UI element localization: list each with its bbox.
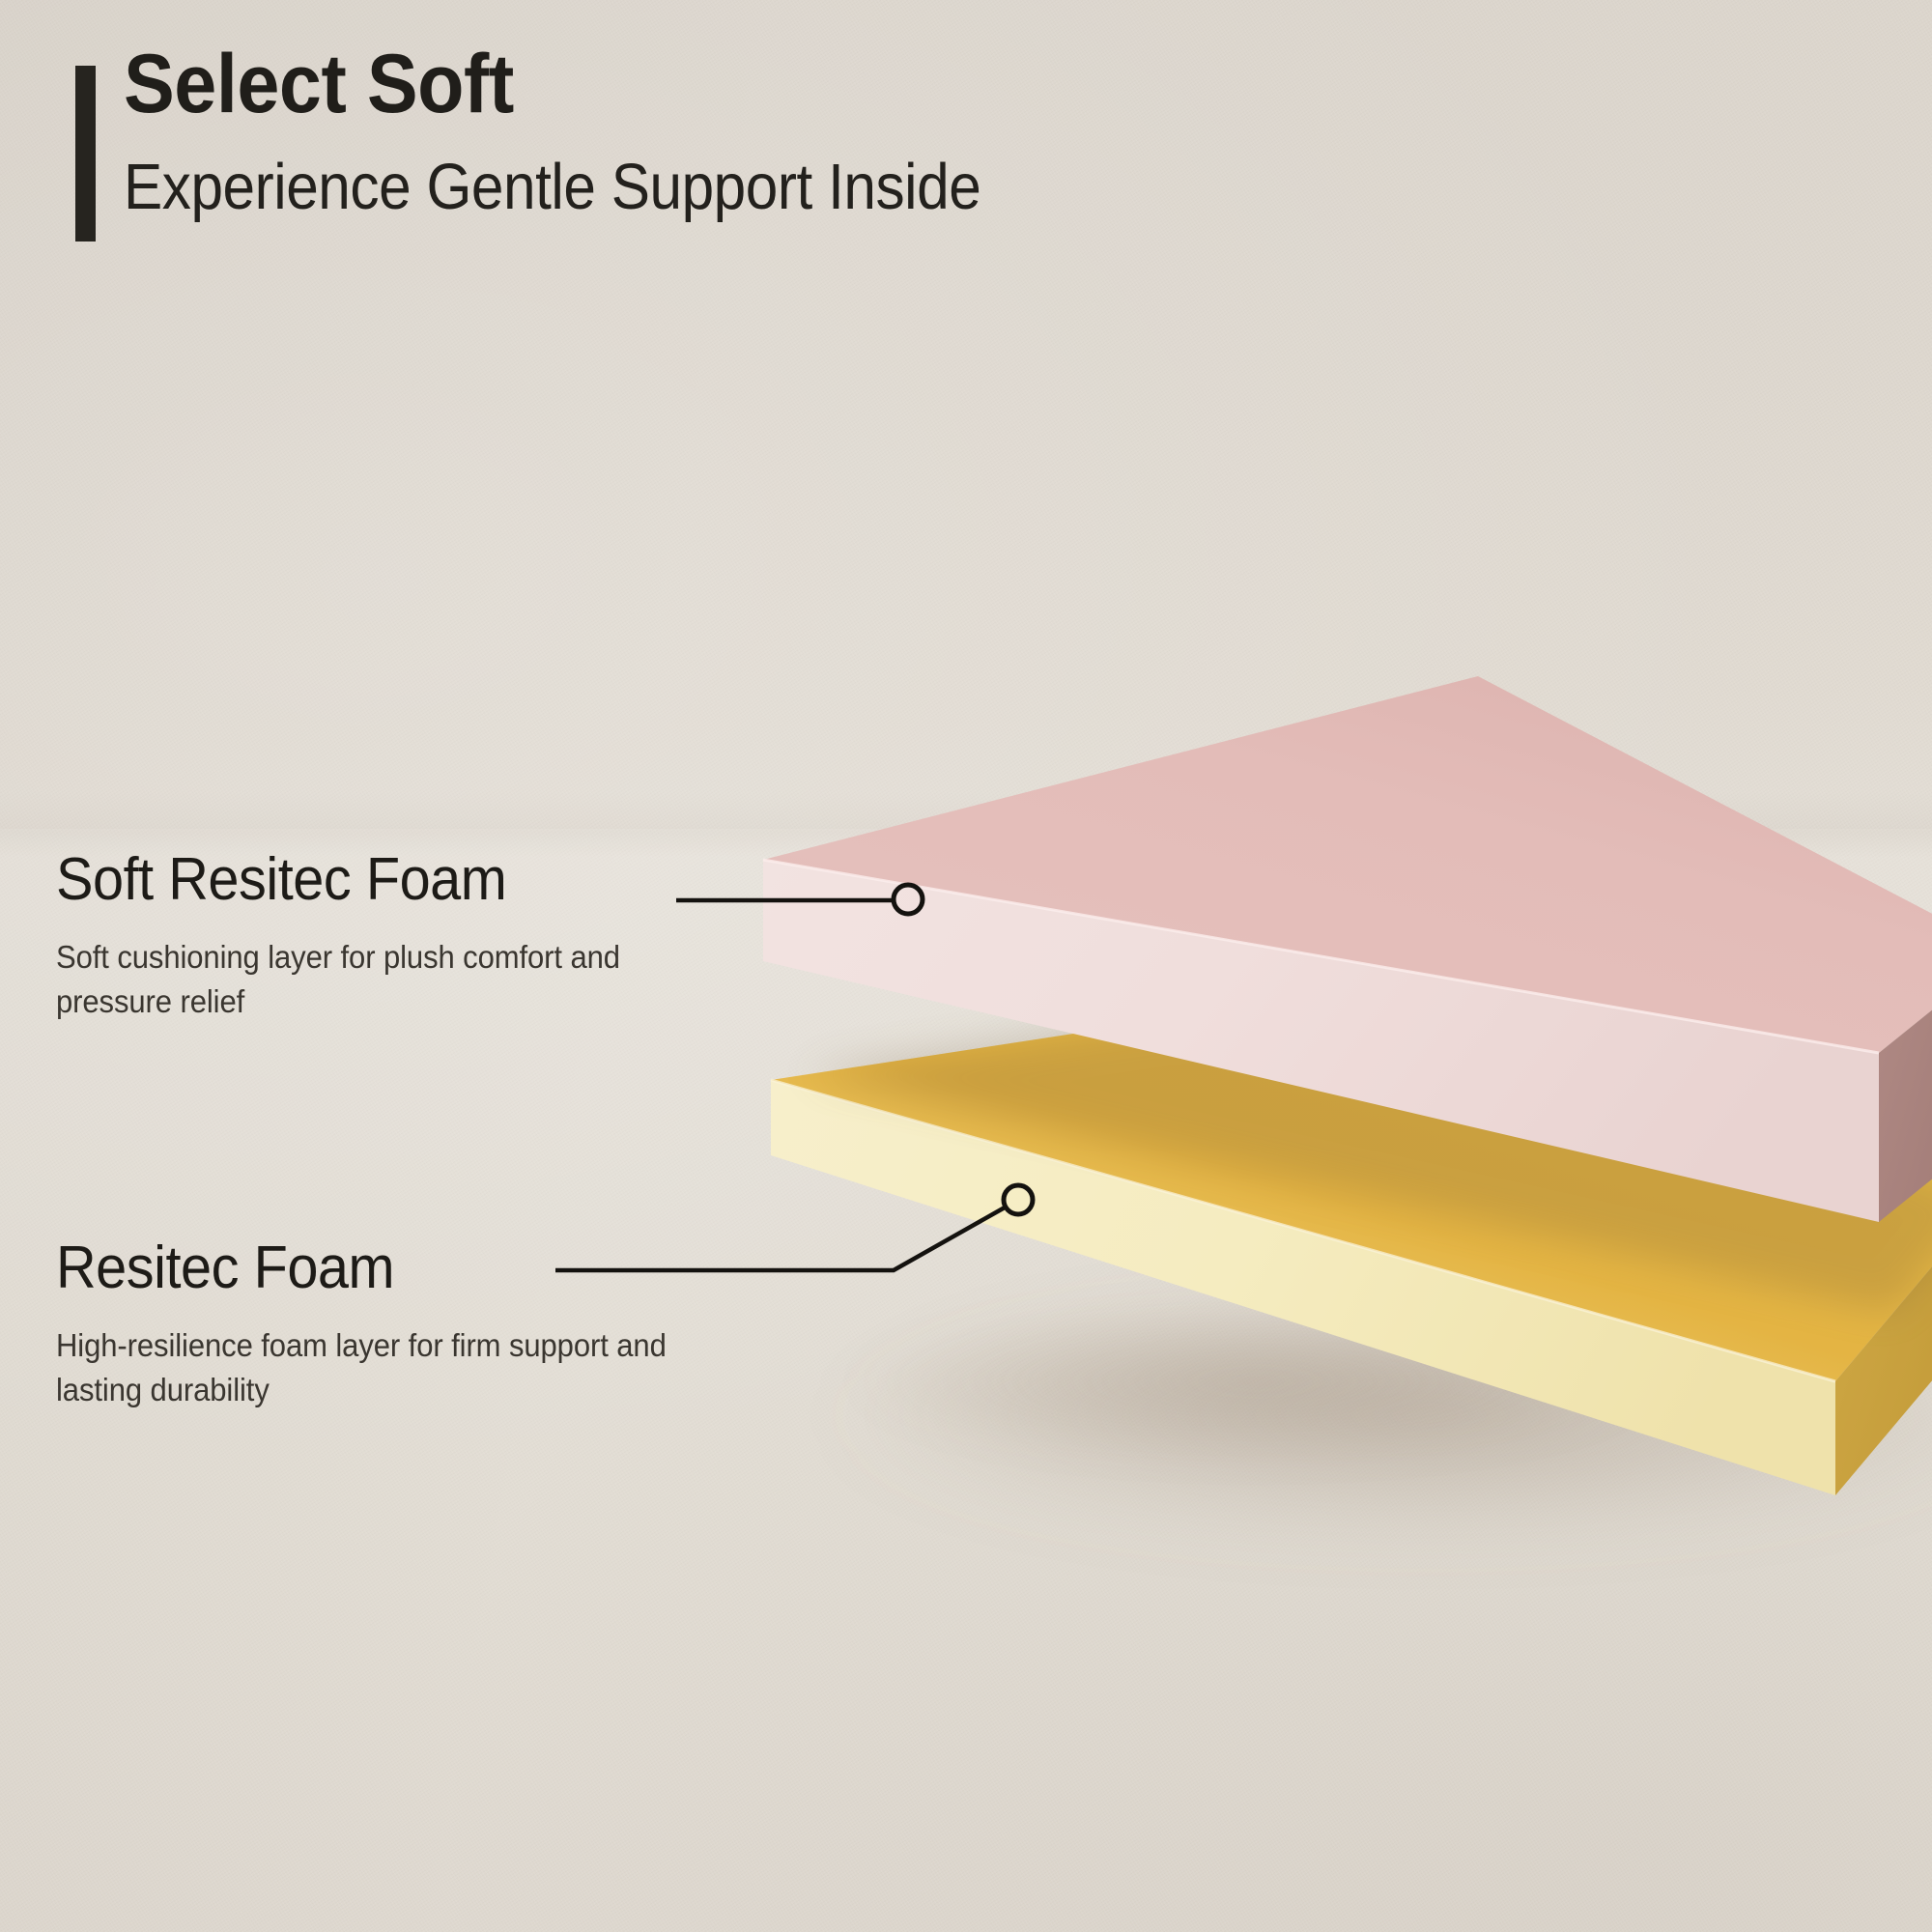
page-title: Select Soft bbox=[124, 43, 514, 126]
product-layer-diagram: Select Soft Experience Gentle Support In… bbox=[0, 0, 1932, 1932]
callout-description: Soft cushioning layer for plush comfort … bbox=[56, 935, 692, 1023]
callout-description: High-resilience foam layer for firm supp… bbox=[56, 1323, 692, 1411]
accent-bar bbox=[75, 66, 96, 241]
callout-soft-resitec-foam[interactable]: Soft Resitec Foam Soft cushioning layer … bbox=[56, 850, 732, 1023]
page-subtitle: Experience Gentle Support Inside bbox=[124, 155, 980, 219]
callout-resitec-foam[interactable]: Resitec Foam High-resilience foam layer … bbox=[56, 1238, 732, 1411]
callout-title: Resitec Foam bbox=[56, 1238, 685, 1298]
callout-title: Soft Resitec Foam bbox=[56, 850, 685, 910]
